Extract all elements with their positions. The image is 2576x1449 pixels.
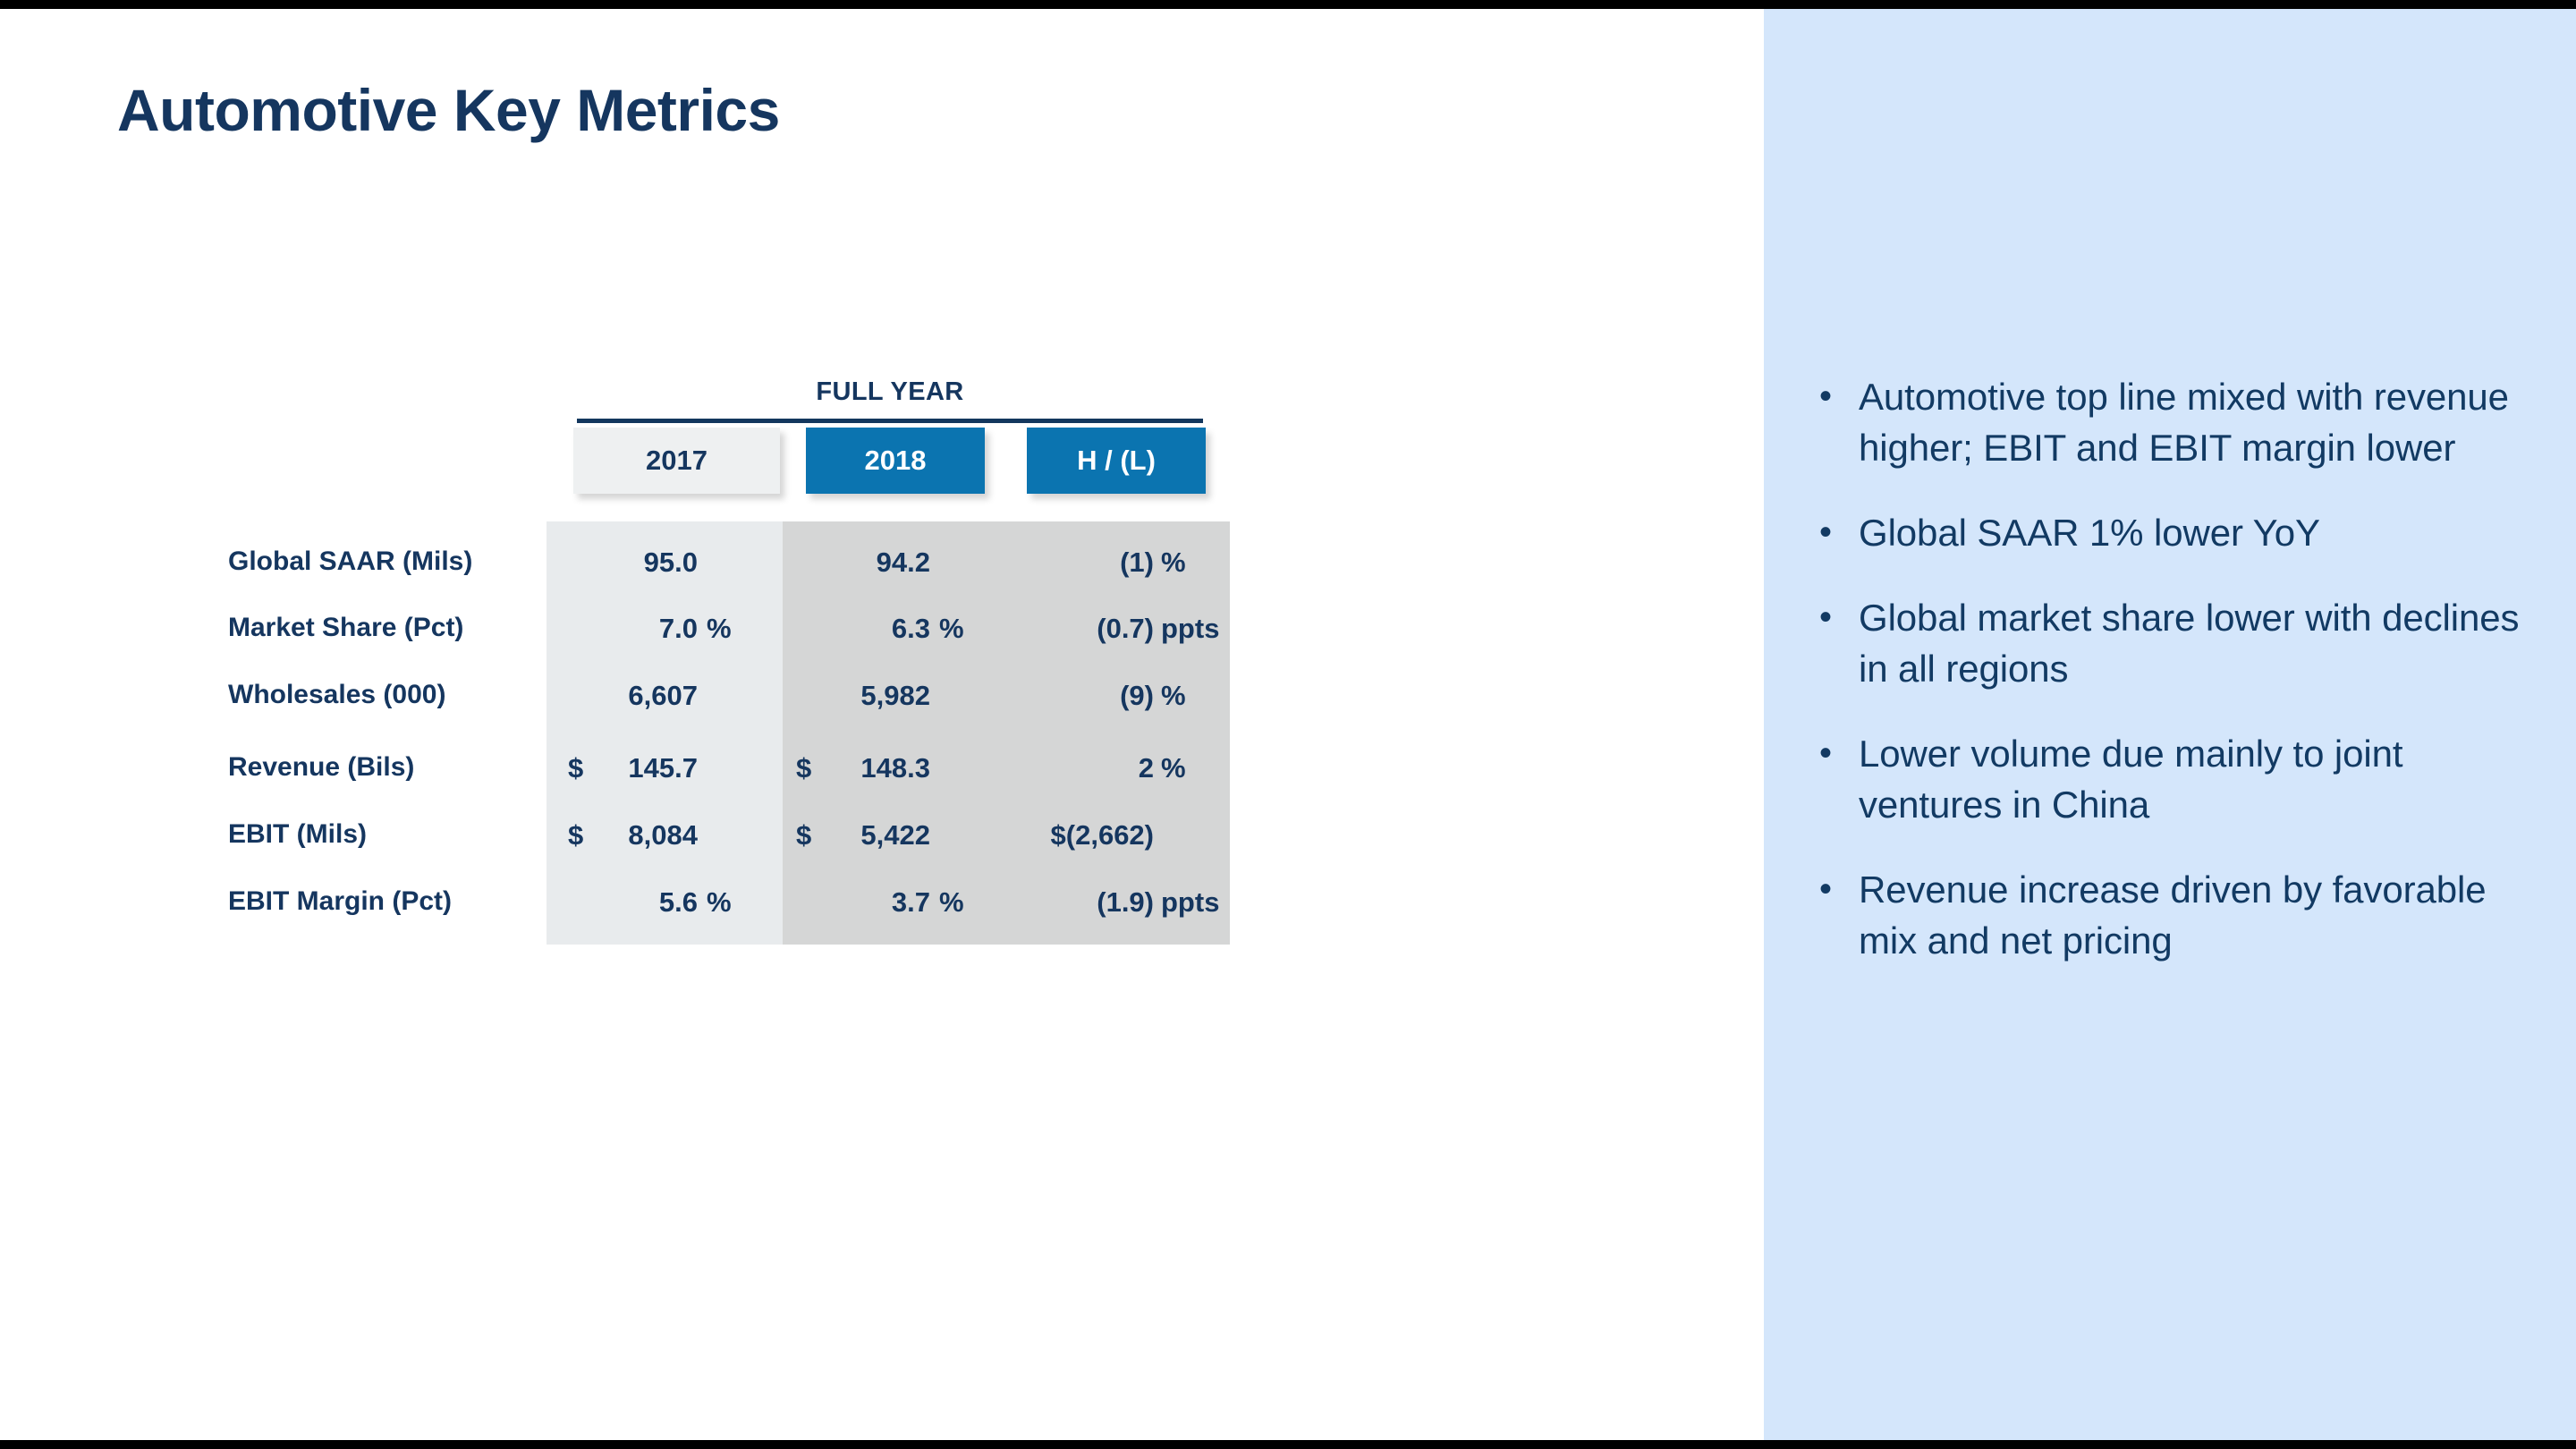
group-header-label: FULL YEAR bbox=[577, 377, 1203, 407]
bullet-point-icon: • bbox=[1800, 371, 1859, 422]
bullet-point-icon: • bbox=[1800, 507, 1859, 558]
list-item-text: Revenue increase driven by favorable mix… bbox=[1859, 864, 2542, 966]
cell-2017: 7.0 % bbox=[537, 613, 787, 645]
cell-value: 148.3 bbox=[778, 752, 930, 784]
cell-unit: ppts bbox=[1161, 613, 1219, 645]
bullet-point-icon: • bbox=[1800, 728, 1859, 779]
cell-value: 94.2 bbox=[778, 547, 930, 579]
cell-2017: 5.6 % bbox=[537, 886, 787, 919]
cell-value: 5,982 bbox=[778, 680, 930, 712]
cell-unit: % bbox=[1161, 547, 1186, 579]
column-header-hl[interactable]: H / (L) bbox=[1027, 428, 1206, 494]
cell-hl: (1) % bbox=[975, 547, 1234, 579]
table-row: Global SAAR (Mils) 95.0 94.2 (1) % bbox=[0, 547, 1764, 579]
bullet-point-icon: • bbox=[1800, 592, 1859, 643]
cell-2017: $ 8,084 bbox=[537, 819, 787, 852]
column-band-2017 bbox=[547, 521, 783, 945]
row-label: EBIT (Mils) bbox=[228, 819, 367, 850]
cell-value: 6.3 bbox=[778, 613, 930, 645]
row-label: Global SAAR (Mils) bbox=[228, 547, 472, 577]
cell-value: 5.6 bbox=[537, 886, 698, 919]
bullet-point-icon: • bbox=[1800, 864, 1859, 915]
cell-value: (0.7) bbox=[975, 613, 1154, 645]
list-item: • Global market share lower with decline… bbox=[1800, 592, 2542, 694]
group-header-rule bbox=[577, 419, 1203, 423]
row-label: Market Share (Pct) bbox=[228, 613, 463, 643]
row-label: Revenue (Bils) bbox=[228, 752, 414, 783]
cell-value: 7.0 bbox=[537, 613, 698, 645]
cell-value: (1.9) bbox=[975, 886, 1154, 919]
row-label: EBIT Margin (Pct) bbox=[228, 886, 452, 917]
cell-value: 2 bbox=[975, 752, 1154, 784]
list-item: • Global SAAR 1% lower YoY bbox=[1800, 507, 2542, 558]
cell-hl: $(2,662) bbox=[975, 819, 1234, 852]
list-item: • Lower volume due mainly to joint ventu… bbox=[1800, 728, 2542, 830]
cell-hl: (0.7) ppts bbox=[975, 613, 1234, 645]
cell-value: $(2,662) bbox=[975, 819, 1154, 852]
column-header-2017[interactable]: 2017 bbox=[573, 428, 780, 494]
row-label: Wholesales (000) bbox=[228, 680, 445, 710]
column-header-2017-label: 2017 bbox=[646, 445, 708, 477]
list-item: • Revenue increase driven by favorable m… bbox=[1800, 864, 2542, 966]
cell-2017: $ 145.7 bbox=[537, 752, 787, 784]
list-item-text: Lower volume due mainly to joint venture… bbox=[1859, 728, 2542, 830]
cell-value: 5,422 bbox=[778, 819, 930, 852]
cell-unit: % bbox=[707, 613, 732, 645]
table-row: Market Share (Pct) 7.0 % 6.3 % (0.7) ppt… bbox=[0, 613, 1764, 645]
cell-value: (1) bbox=[975, 547, 1154, 579]
cell-hl: (1.9) ppts bbox=[975, 886, 1234, 919]
table-row: Revenue (Bils) $ 145.7 $ 148.3 2 % bbox=[0, 752, 1764, 784]
table-row: Wholesales (000) 6,607 5,982 (9) % bbox=[0, 680, 1764, 712]
cell-value: 95.0 bbox=[537, 547, 698, 579]
column-header-hl-label: H / (L) bbox=[1077, 445, 1156, 477]
table-row: EBIT Margin (Pct) 5.6 % 3.7 % (1.9) ppts bbox=[0, 886, 1764, 919]
slide-root: Automotive Key Metrics FULL YEAR 2017 20… bbox=[0, 0, 2576, 1449]
column-band-2018-hl bbox=[783, 521, 1230, 945]
cell-unit: % bbox=[939, 613, 964, 645]
cell-unit: % bbox=[707, 886, 732, 919]
table-row: EBIT (Mils) $ 8,084 $ 5,422 $(2,662) bbox=[0, 819, 1764, 852]
list-item-text: Global SAAR 1% lower YoY bbox=[1859, 507, 2542, 558]
cell-hl: (9) % bbox=[975, 680, 1234, 712]
cell-2017: 95.0 bbox=[537, 547, 787, 579]
cell-value: 145.7 bbox=[537, 752, 698, 784]
cell-unit: ppts bbox=[1161, 886, 1219, 919]
cell-unit: % bbox=[939, 886, 964, 919]
column-header-2018-label: 2018 bbox=[865, 445, 927, 477]
commentary-bullet-list: • Automotive top line mixed with revenue… bbox=[1800, 371, 2542, 1000]
cell-value: 8,084 bbox=[537, 819, 698, 852]
cell-value: 6,607 bbox=[537, 680, 698, 712]
list-item: • Automotive top line mixed with revenue… bbox=[1800, 371, 2542, 473]
commentary-panel: • Automotive top line mixed with revenue… bbox=[1764, 9, 2576, 1440]
cell-value: 3.7 bbox=[778, 886, 930, 919]
list-item-text: Global market share lower with declines … bbox=[1859, 592, 2542, 694]
cell-unit: % bbox=[1161, 752, 1186, 784]
cell-value: (9) bbox=[975, 680, 1154, 712]
cell-unit: % bbox=[1161, 680, 1186, 712]
metrics-table: FULL YEAR 2017 2018 H / (L) Global SAAR … bbox=[0, 0, 1764, 1449]
cell-hl: 2 % bbox=[975, 752, 1234, 784]
cell-2017: 6,607 bbox=[537, 680, 787, 712]
list-item-text: Automotive top line mixed with revenue h… bbox=[1859, 371, 2542, 473]
column-header-2018[interactable]: 2018 bbox=[806, 428, 985, 494]
